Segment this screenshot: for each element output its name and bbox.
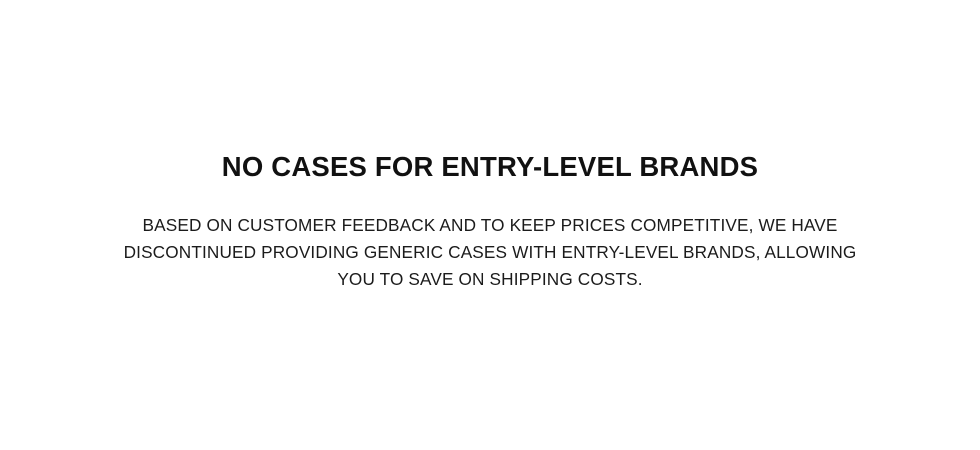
page-title: NO CASES FOR ENTRY-LEVEL BRANDS [0, 150, 980, 184]
banner-description-line-2: DISCONTINUED PROVIDING GENERIC CASES WIT… [0, 239, 980, 266]
banner-description-line-1: BASED ON CUSTOMER FEEDBACK AND TO KEEP P… [0, 212, 980, 239]
banner-content: NO CASES FOR ENTRY-LEVEL BRANDS BASED ON… [0, 0, 980, 293]
banner-description-line-3: YOU TO SAVE ON SHIPPING COSTS. [0, 266, 980, 293]
banner-description: BASED ON CUSTOMER FEEDBACK AND TO KEEP P… [0, 184, 980, 293]
informational-banner: NO CASES FOR ENTRY-LEVEL BRANDS BASED ON… [0, 0, 980, 450]
